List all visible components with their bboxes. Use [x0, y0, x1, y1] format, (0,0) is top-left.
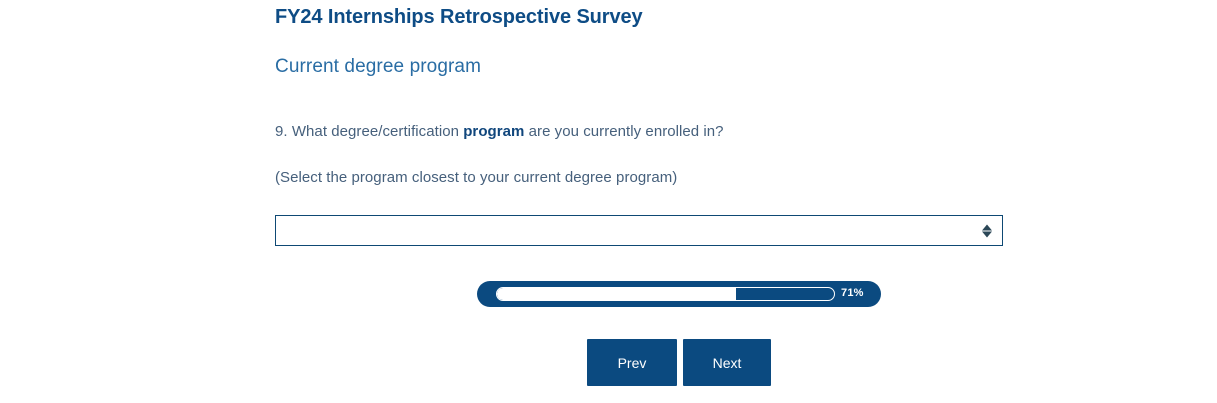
spinner-up-down-icon[interactable]	[981, 221, 992, 240]
degree-program-select[interactable]	[275, 215, 1003, 246]
next-button[interactable]: Next	[683, 339, 771, 386]
navigation-buttons: Prev Next	[587, 339, 771, 386]
survey-page: FY24 Internships Retrospective Survey Cu…	[0, 0, 1217, 403]
chevron-up-icon	[982, 224, 992, 230]
progress-bar-label: 71%	[841, 287, 864, 299]
section-title: Current degree program	[275, 56, 481, 78]
question-emphasis: program	[463, 123, 524, 140]
question-hint: (Select the program closest to your curr…	[275, 169, 677, 186]
progress-bar: 71%	[477, 281, 881, 307]
progress-bar-fill	[497, 288, 736, 300]
survey-title: FY24 Internships Retrospective Survey	[275, 6, 643, 29]
prev-button[interactable]: Prev	[587, 339, 677, 386]
chevron-down-icon	[982, 231, 992, 237]
question-text-after: are you currently enrolled in?	[524, 123, 723, 140]
progress-bar-track	[496, 287, 835, 301]
question-text: 9. What degree/certification program are…	[275, 123, 724, 140]
question-text-before: 9. What degree/certification	[275, 123, 463, 140]
